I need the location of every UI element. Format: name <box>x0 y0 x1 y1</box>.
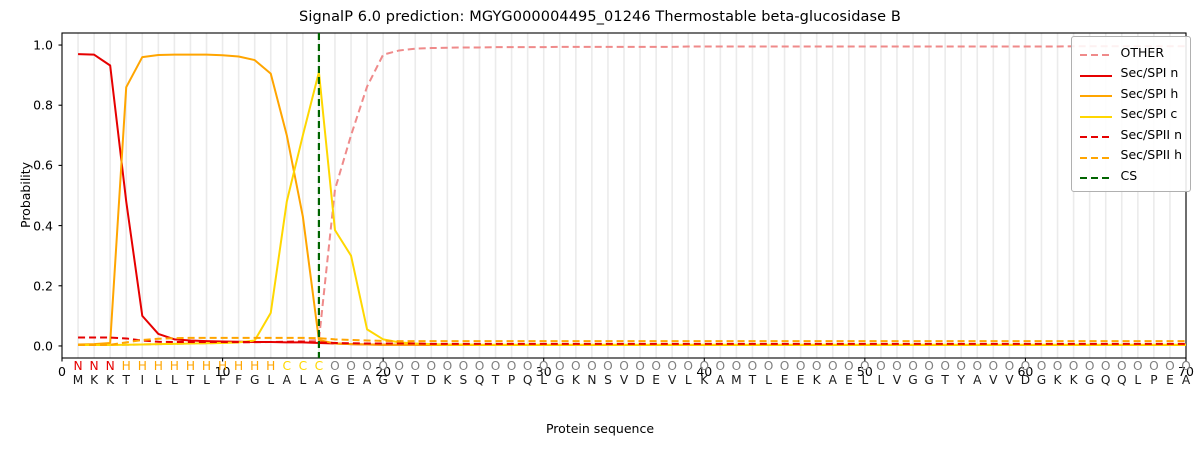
sequence-letter: K <box>1070 373 1078 387</box>
sequence-letter: K <box>106 373 114 387</box>
region-letter: O <box>716 359 726 373</box>
region-letter: O <box>555 359 565 373</box>
region-letter: O <box>587 359 597 373</box>
region-letter: O <box>780 359 790 373</box>
sequence-letter: K <box>572 373 580 387</box>
sequence-letter: G <box>330 373 339 387</box>
sequence-letter: T <box>187 373 194 387</box>
region-letter: O <box>796 359 806 373</box>
sequence-letter: P <box>508 373 515 387</box>
legend-item[interactable]: Sec/SPI n <box>1079 63 1182 84</box>
sequence-letter: P <box>1150 373 1157 387</box>
region-letter: O <box>330 359 340 373</box>
region-letter: N <box>73 359 82 373</box>
sequence-letter: G <box>378 373 387 387</box>
legend-item[interactable]: CS <box>1079 165 1182 186</box>
sequence-letter: A <box>363 373 371 387</box>
sequence-letter: L <box>1134 373 1141 387</box>
y-tick-label: 0.8 <box>8 98 53 113</box>
y-tick-label: 1.0 <box>8 38 53 53</box>
sequence-letter: M <box>73 373 84 387</box>
sequence-letter: K <box>1054 373 1062 387</box>
region-letter: O <box>394 359 404 373</box>
legend-label: CS <box>1121 168 1138 183</box>
region-letter: O <box>539 359 549 373</box>
region-letter: O <box>1085 359 1095 373</box>
sequence-letter: L <box>171 373 178 387</box>
region-letter: H <box>218 359 227 373</box>
region-letter: O <box>619 359 629 373</box>
region-letter: O <box>571 359 581 373</box>
legend-label: OTHER <box>1121 45 1164 60</box>
region-letter: O <box>1053 359 1063 373</box>
region-letter: N <box>106 359 115 373</box>
sequence-letter: L <box>267 373 274 387</box>
region-letter: O <box>748 359 758 373</box>
sequence-letter: V <box>989 373 997 387</box>
sequence-letter: G <box>924 373 933 387</box>
sequence-letter: T <box>941 373 948 387</box>
sequence-letter: G <box>908 373 917 387</box>
region-letter: O <box>1133 359 1143 373</box>
sequence-letter: A <box>315 373 323 387</box>
series-line-sec-spi-h <box>78 55 1186 345</box>
region-letter: O <box>1117 359 1127 373</box>
signalp-prediction-figure: SignalP 6.0 prediction: MGYG000004495_01… <box>0 0 1200 450</box>
region-letter: O <box>764 359 774 373</box>
region-letter: O <box>812 359 822 373</box>
sequence-letter: V <box>668 373 676 387</box>
legend-item[interactable]: Sec/SPII n <box>1079 124 1182 145</box>
sequence-letter: G <box>555 373 564 387</box>
region-letter: O <box>924 359 934 373</box>
sequence-letter: K <box>700 373 708 387</box>
region-letter: H <box>186 359 195 373</box>
sequence-letter: D <box>635 373 644 387</box>
sequence-letter: K <box>813 373 821 387</box>
region-letter: O <box>732 359 742 373</box>
sequence-letter: G <box>1085 373 1094 387</box>
sequence-letter: E <box>845 373 853 387</box>
region-letter: O <box>1021 359 1031 373</box>
sequence-letter: S <box>604 373 612 387</box>
region-letter: O <box>972 359 982 373</box>
legend-label: Sec/SPI n <box>1121 65 1179 80</box>
legend-label: Sec/SPI h <box>1121 86 1179 101</box>
region-letter: O <box>507 359 517 373</box>
region-letter: O <box>443 359 453 373</box>
legend-swatch-icon <box>1079 108 1113 120</box>
region-letter: C <box>299 359 308 373</box>
legend-swatch-icon <box>1079 87 1113 99</box>
y-tick-label: 0.0 <box>8 338 53 353</box>
region-letter: O <box>1181 359 1191 373</box>
sequence-letter: E <box>652 373 660 387</box>
region-letter: O <box>459 359 469 373</box>
region-letter: H <box>170 359 179 373</box>
series-line-sec-spi-c <box>78 72 1186 345</box>
y-tick-label: 0.6 <box>8 158 53 173</box>
legend-swatch-icon <box>1079 46 1113 58</box>
sequence-letter: A <box>283 373 291 387</box>
region-letter: O <box>603 359 613 373</box>
y-tick-label: 0.2 <box>8 278 53 293</box>
region-letter: O <box>362 359 372 373</box>
sequence-letter: M <box>731 373 742 387</box>
region-letter: C <box>315 359 324 373</box>
sequence-letter: E <box>781 373 789 387</box>
region-letter: O <box>956 359 966 373</box>
sequence-letter: G <box>250 373 259 387</box>
sequence-letter: F <box>219 373 226 387</box>
region-letter: O <box>1165 359 1175 373</box>
legend-label: Sec/SPII n <box>1121 127 1182 142</box>
sequence-letter: E <box>1166 373 1174 387</box>
legend-item[interactable]: Sec/SPII h <box>1079 145 1182 166</box>
sequence-letter: V <box>395 373 403 387</box>
region-letter: O <box>410 359 420 373</box>
region-letter: O <box>1005 359 1015 373</box>
region-letter: C <box>283 359 292 373</box>
region-letter: H <box>250 359 259 373</box>
region-letter: H <box>122 359 131 373</box>
region-letter: H <box>202 359 211 373</box>
legend-swatch-icon <box>1079 67 1113 79</box>
legend-swatch-icon <box>1079 128 1113 140</box>
sequence-letter: G <box>1037 373 1046 387</box>
sequence-letter: V <box>620 373 628 387</box>
sequence-letter: L <box>861 373 868 387</box>
region-letter: O <box>667 359 677 373</box>
region-letter: O <box>940 359 950 373</box>
sequence-letter: V <box>893 373 901 387</box>
sequence-letter: T <box>749 373 756 387</box>
region-letter: O <box>491 359 501 373</box>
region-letter: H <box>266 359 275 373</box>
region-letter: O <box>860 359 870 373</box>
sequence-letter: A <box>716 373 724 387</box>
sequence-letter: L <box>155 373 162 387</box>
region-letter: O <box>1101 359 1111 373</box>
sequence-letter: L <box>203 373 210 387</box>
region-letter: H <box>138 359 147 373</box>
region-letter: O <box>908 359 918 373</box>
legend-item[interactable]: OTHER <box>1079 42 1182 63</box>
legend-label: Sec/SPI c <box>1121 106 1178 121</box>
legend-item[interactable]: Sec/SPI h <box>1079 83 1182 104</box>
region-letter: O <box>1069 359 1079 373</box>
sequence-letter: E <box>347 373 355 387</box>
legend-item[interactable]: Sec/SPI c <box>1079 104 1182 125</box>
region-letter: O <box>1149 359 1159 373</box>
sequence-letter: Q <box>523 373 533 387</box>
sequence-letter: N <box>587 373 596 387</box>
sequence-letter: A <box>829 373 837 387</box>
sequence-letter: Y <box>957 373 964 387</box>
sequence-letter: T <box>492 373 499 387</box>
region-letter: O <box>892 359 902 373</box>
region-letter: O <box>699 359 709 373</box>
sequence-letter: E <box>797 373 805 387</box>
sequence-letter: F <box>235 373 242 387</box>
region-letter: O <box>427 359 437 373</box>
series-line-sec-spi-n <box>78 54 1186 345</box>
region-letter: O <box>828 359 838 373</box>
sequence-letter: D <box>1021 373 1030 387</box>
chart-legend: OTHERSec/SPI nSec/SPI hSec/SPI cSec/SPII… <box>1071 36 1191 192</box>
region-letter: O <box>876 359 886 373</box>
sequence-letter: D <box>427 373 436 387</box>
region-letter: O <box>378 359 388 373</box>
region-letter: H <box>234 359 243 373</box>
sequence-letter: I <box>140 373 144 387</box>
region-letter: O <box>635 359 645 373</box>
y-tick-label: 0.4 <box>8 218 53 233</box>
sequence-letter: L <box>299 373 306 387</box>
region-letter: H <box>154 359 163 373</box>
sequence-letter: V <box>1005 373 1013 387</box>
sequence-letter: L <box>685 373 692 387</box>
sequence-letter: A <box>973 373 981 387</box>
legend-swatch-icon <box>1079 149 1113 161</box>
region-letter: O <box>651 359 661 373</box>
sequence-letter: K <box>90 373 98 387</box>
region-letter: O <box>683 359 693 373</box>
sequence-letter: T <box>122 373 129 387</box>
region-letter: N <box>90 359 99 373</box>
sequence-letter: K <box>443 373 451 387</box>
sequence-letter: Q <box>1101 373 1111 387</box>
x-tick-label: 0 <box>58 364 66 379</box>
legend-swatch-icon <box>1079 169 1113 181</box>
region-letter: O <box>475 359 485 373</box>
sequence-letter: T <box>412 373 419 387</box>
legend-label: Sec/SPII h <box>1121 147 1182 162</box>
sequence-letter: A <box>1182 373 1190 387</box>
sequence-letter: L <box>540 373 547 387</box>
region-letter: O <box>523 359 533 373</box>
region-letter: O <box>346 359 356 373</box>
region-letter: O <box>1037 359 1047 373</box>
sequence-letter: S <box>460 373 468 387</box>
sequence-letter: Q <box>475 373 485 387</box>
region-letter: O <box>989 359 999 373</box>
sequence-letter: L <box>765 373 772 387</box>
series-line-other <box>78 46 1186 345</box>
sequence-letter: Q <box>1117 373 1127 387</box>
region-letter: O <box>844 359 854 373</box>
sequence-letter: L <box>878 373 885 387</box>
